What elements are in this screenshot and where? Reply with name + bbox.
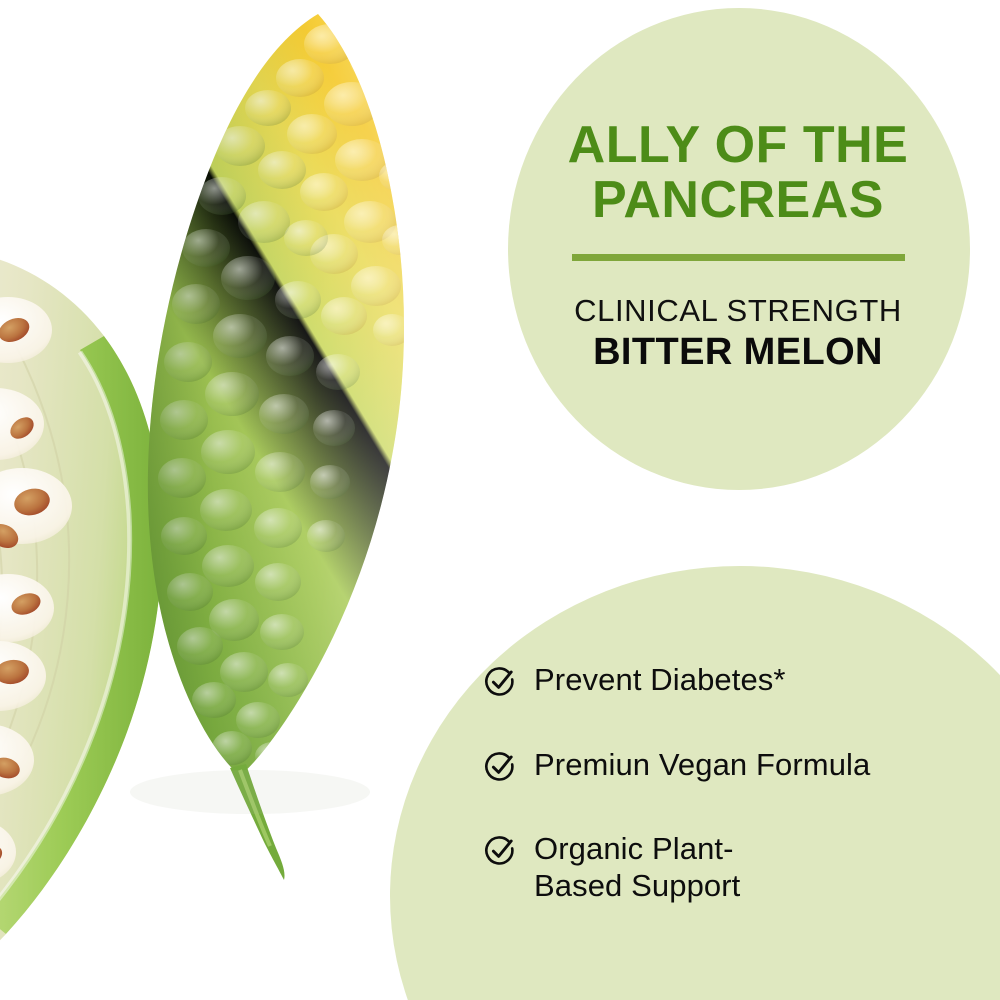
list-item: Organic Plant- Based Support: [484, 831, 954, 904]
list-item: Premiun Vegan Formula: [484, 747, 954, 784]
benefit-label: Prevent Diabetes*: [534, 662, 786, 699]
subtitle-bitter-melon: BITTER MELON: [512, 331, 964, 375]
poster-canvas: ALLY OF THE PANCREAS CLINICAL STRENGTH B…: [0, 0, 1000, 1000]
benefit-label: Premiun Vegan Formula: [534, 747, 870, 784]
bitter-melon-cut-half: [0, 240, 180, 1000]
headline-block: ALLY OF THE PANCREAS CLINICAL STRENGTH B…: [512, 118, 964, 375]
title-divider: [572, 254, 905, 261]
benefit-label: Organic Plant- Based Support: [534, 831, 740, 904]
check-circle-icon: [484, 835, 516, 867]
subtitle-clinical-strength: CLINICAL STRENGTH: [512, 293, 964, 329]
bitter-melon-photo: [0, 0, 520, 1000]
list-item: Prevent Diabetes*: [484, 662, 954, 699]
page-title: ALLY OF THE PANCREAS: [512, 118, 964, 228]
check-circle-icon: [484, 751, 516, 783]
subtitle-block: CLINICAL STRENGTH BITTER MELON: [512, 293, 964, 374]
benefits-list: Prevent Diabetes* Premiun Vegan Formula …: [484, 662, 954, 904]
bitter-melon-whole: [130, 0, 430, 820]
check-circle-icon: [484, 666, 516, 698]
